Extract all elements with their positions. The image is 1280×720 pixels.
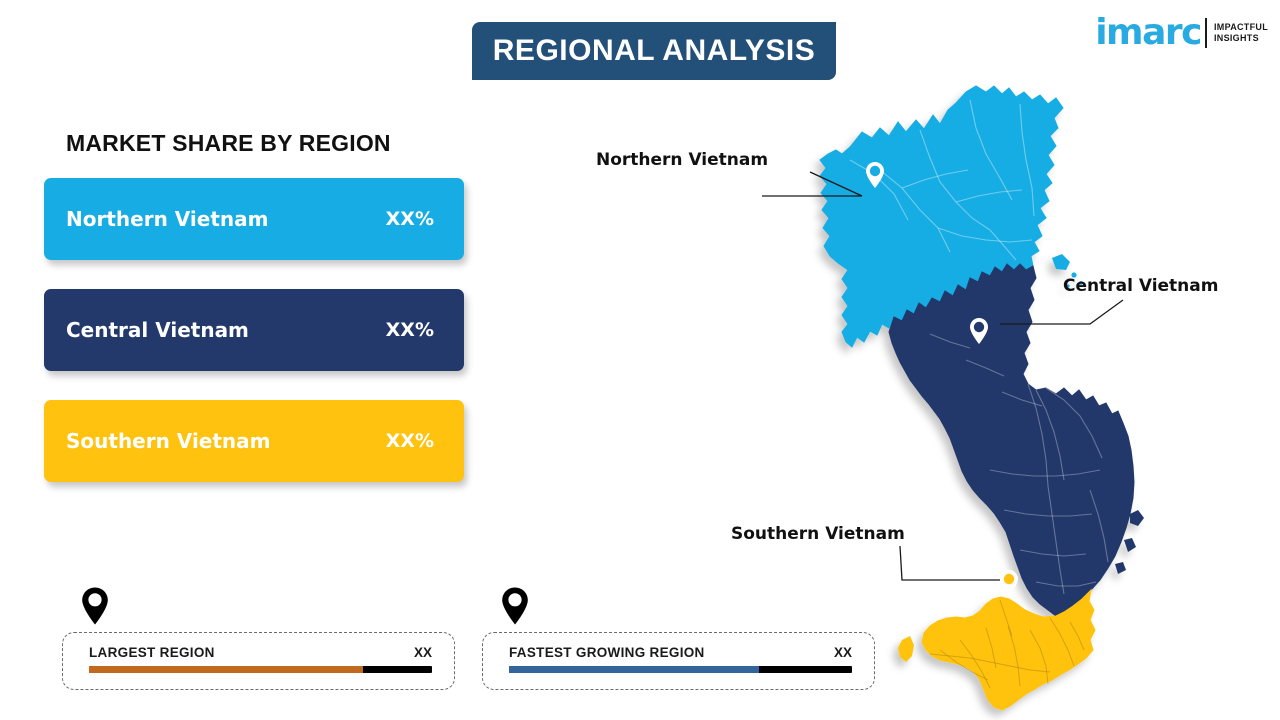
largest-region-value: XX xyxy=(414,645,432,660)
fastest-growing-region-label: FASTEST GROWING REGION xyxy=(509,645,705,660)
imarc-logo: imarc IMPACTFUL INSIGHTS xyxy=(1095,12,1268,54)
region-bar-value: XX% xyxy=(386,430,434,452)
region-bar-southern[interactable]: Southern Vietnam XX% xyxy=(44,400,464,482)
logo-tagline: IMPACTFUL INSIGHTS xyxy=(1214,22,1268,44)
market-share-heading: MARKET SHARE BY REGION xyxy=(66,130,391,157)
region-bar-label: Northern Vietnam xyxy=(66,207,386,231)
infographic-canvas: REGIONAL ANALYSIS imarc IMPACTFUL INSIGH… xyxy=(0,0,1280,720)
map-region-central-coast-3 xyxy=(1115,562,1126,574)
region-bar-value: XX% xyxy=(386,208,434,230)
region-bar-central[interactable]: Central Vietnam XX% xyxy=(44,289,464,371)
logo-tagline-line2: INSIGHTS xyxy=(1214,33,1268,44)
region-bar-label: Southern Vietnam xyxy=(66,429,386,453)
vietnam-map-svg xyxy=(790,70,1210,720)
market-share-legend: Northern Vietnam XX% Central Vietnam XX%… xyxy=(44,178,464,511)
region-bar-value: XX% xyxy=(386,319,434,341)
map-region-central-coast xyxy=(1130,510,1144,526)
callout-label-central: Central Vietnam xyxy=(1063,276,1218,296)
map-island-phu-quoc xyxy=(898,636,914,662)
region-bar-northern[interactable]: Northern Vietnam XX% xyxy=(44,178,464,260)
page-title-banner: REGIONAL ANALYSIS xyxy=(472,22,836,80)
map-region-central[interactable] xyxy=(889,264,1134,616)
logo-tagline-line1: IMPACTFUL xyxy=(1214,22,1268,33)
region-bar-label: Central Vietnam xyxy=(66,318,386,342)
largest-region-box: LARGEST REGION XX xyxy=(62,632,455,690)
largest-region-progress-fill xyxy=(89,666,363,673)
map-region-central-coast-2 xyxy=(1124,538,1136,552)
map-region-northern-coast xyxy=(1052,254,1070,270)
vietnam-map xyxy=(790,70,1210,720)
page-title: REGIONAL ANALYSIS xyxy=(493,34,815,68)
logo-wordmark: imarc xyxy=(1095,15,1201,51)
callout-label-southern: Southern Vietnam xyxy=(731,524,905,544)
largest-region-progress-track xyxy=(89,666,432,673)
largest-region-label: LARGEST REGION xyxy=(89,645,215,660)
map-pin-icon xyxy=(80,586,110,626)
logo-divider xyxy=(1205,18,1207,48)
callout-label-northern: Northern Vietnam xyxy=(596,150,768,170)
fastest-growing-region-progress-fill xyxy=(509,666,759,673)
map-pin-icon xyxy=(500,586,530,626)
map-pin-southern[interactable] xyxy=(1000,570,1018,596)
